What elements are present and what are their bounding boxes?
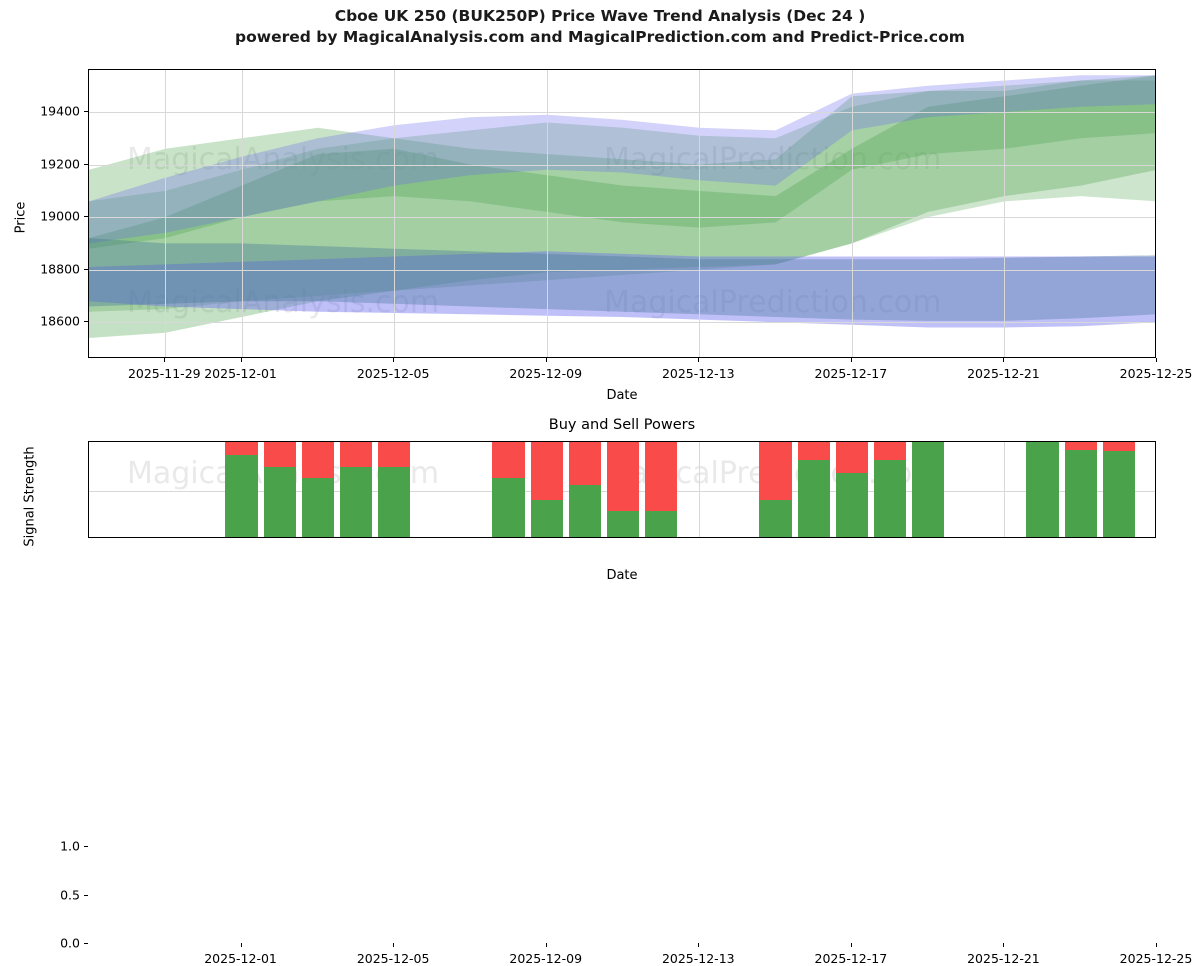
gridline-vertical <box>547 70 548 357</box>
y-tick-mark <box>84 895 88 896</box>
x-tick-mark <box>546 358 547 362</box>
price-y-axis-label: Price <box>14 188 29 248</box>
x-tick-mark <box>393 358 394 362</box>
y-tick-label: 19000 <box>40 209 80 224</box>
y-tick-label: 18600 <box>40 314 80 329</box>
bar-segment-sell <box>531 441 563 500</box>
bar-stack[interactable] <box>645 441 677 537</box>
bar-segment-sell <box>1103 441 1135 451</box>
bar-stack[interactable] <box>340 441 372 537</box>
bar-segment-sell <box>836 441 868 473</box>
bar-stack[interactable] <box>874 441 906 537</box>
gridline-horizontal <box>89 322 1155 323</box>
y-tick-mark <box>84 321 88 322</box>
x-tick-mark <box>1156 943 1157 947</box>
bar-segment-buy <box>912 441 944 537</box>
y-tick-label: 0.0 <box>60 936 80 951</box>
bar-segment-sell <box>302 441 334 478</box>
x-tick-label: 2025-12-09 <box>509 951 582 966</box>
bar-segment-buy <box>531 500 563 537</box>
bar-segment-buy <box>874 460 906 537</box>
bar-segment-sell <box>798 441 830 460</box>
buy-sell-plot-area: MagicalAnalysis.com MagicalPrediction.co… <box>88 441 1156 538</box>
x-tick-label: 2025-12-21 <box>967 951 1040 966</box>
bar-segment-sell <box>607 441 639 511</box>
gridline-vertical <box>165 70 166 357</box>
gridline-horizontal <box>89 217 1155 218</box>
bar-stack[interactable] <box>836 441 868 537</box>
bar-segment-sell <box>264 441 296 467</box>
gridline-vertical <box>242 70 243 357</box>
x-tick-mark <box>1156 358 1157 362</box>
bar-segment-buy <box>759 500 791 537</box>
bar-stack[interactable] <box>1065 441 1097 537</box>
bar-segment-buy <box>569 485 601 537</box>
bar-stack[interactable] <box>607 441 639 537</box>
gridline-vertical <box>1004 442 1005 537</box>
x-tick-mark <box>1003 943 1004 947</box>
bar-segment-buy <box>1103 451 1135 537</box>
y-tick-mark <box>84 216 88 217</box>
bar-segment-sell <box>225 441 257 455</box>
bar-stack[interactable] <box>531 441 563 537</box>
bar-segment-sell <box>645 441 677 511</box>
price-plot-area: MagicalAnalysis.com MagicalPrediction.co… <box>88 69 1156 358</box>
bar-segment-buy <box>340 467 372 537</box>
price-x-axis-label: Date <box>88 388 1156 403</box>
bar-stack[interactable] <box>225 441 257 537</box>
x-tick-label: 2025-12-09 <box>509 366 582 381</box>
bar-segment-sell <box>340 441 372 467</box>
y-tick-mark <box>84 943 88 944</box>
bar-segment-buy <box>378 467 410 537</box>
y-tick-label: 0.5 <box>60 887 80 902</box>
gridline-vertical <box>1004 70 1005 357</box>
signal-y-axis-label: Signal Strength <box>23 444 38 550</box>
x-tick-mark <box>164 358 165 362</box>
x-tick-mark <box>698 943 699 947</box>
bar-segment-buy <box>645 511 677 537</box>
y-tick-label: 19200 <box>40 156 80 171</box>
signal-x-axis-label: Date <box>88 568 1156 583</box>
y-tick-label: 18800 <box>40 261 80 276</box>
bar-stack[interactable] <box>378 441 410 537</box>
x-tick-mark <box>241 943 242 947</box>
bar-segment-buy <box>225 455 257 538</box>
x-tick-mark <box>241 358 242 362</box>
x-tick-label: 2025-12-21 <box>967 366 1040 381</box>
x-tick-mark <box>546 943 547 947</box>
x-tick-label: 2025-12-17 <box>815 951 888 966</box>
y-tick-mark <box>84 269 88 270</box>
gridline-vertical <box>852 70 853 357</box>
bar-segment-sell <box>492 441 524 478</box>
bar-segment-buy <box>302 478 334 537</box>
bar-stack[interactable] <box>569 441 601 537</box>
y-tick-mark <box>84 111 88 112</box>
bar-segment-sell <box>378 441 410 467</box>
bar-segment-buy <box>1026 441 1058 537</box>
x-tick-mark <box>698 358 699 362</box>
x-tick-label: 2025-12-25 <box>1120 366 1193 381</box>
bar-stack[interactable] <box>264 441 296 537</box>
gridline-vertical <box>699 70 700 357</box>
x-tick-mark <box>851 943 852 947</box>
gridline-horizontal <box>89 270 1155 271</box>
gridline-vertical <box>394 70 395 357</box>
y-tick-label: 1.0 <box>60 839 80 854</box>
x-tick-mark <box>1003 358 1004 362</box>
bar-segment-buy <box>607 511 639 537</box>
bar-segment-buy <box>836 473 868 537</box>
bar-segment-sell <box>1065 441 1097 450</box>
x-tick-label: 2025-11-29 <box>128 366 201 381</box>
y-tick-mark <box>84 846 88 847</box>
bar-segment-buy <box>492 478 524 537</box>
buy-sell-title: Buy and Sell Powers <box>88 417 1156 433</box>
x-tick-mark <box>393 943 394 947</box>
bar-segment-sell <box>759 441 791 500</box>
figure-root: Cboe UK 250 (BUK250P) Price Wave Trend A… <box>0 0 1200 600</box>
bar-stack[interactable] <box>759 441 791 537</box>
bar-stack[interactable] <box>1103 441 1135 537</box>
bar-stack[interactable] <box>798 441 830 537</box>
price-wave-panel: Price MagicalAnalysis.com MagicalPredict… <box>0 0 1200 405</box>
gridline-vertical <box>699 442 700 537</box>
buy-sell-panel: Buy and Sell Powers Signal Strength Magi… <box>0 405 1200 600</box>
x-tick-label: 2025-12-25 <box>1120 951 1193 966</box>
x-tick-label: 2025-12-05 <box>357 366 430 381</box>
bar-segment-sell <box>874 441 906 460</box>
bar-stack[interactable] <box>302 441 334 537</box>
y-tick-mark <box>84 164 88 165</box>
y-tick-label: 19400 <box>40 104 80 119</box>
x-tick-label: 2025-12-01 <box>204 366 277 381</box>
bar-stack[interactable] <box>1026 441 1058 537</box>
price-wave-bands <box>89 70 1156 358</box>
x-tick-mark <box>851 358 852 362</box>
x-tick-label: 2025-12-17 <box>815 366 888 381</box>
bar-segment-buy <box>798 460 830 537</box>
bar-stack[interactable] <box>912 441 944 537</box>
x-tick-label: 2025-12-13 <box>662 951 735 966</box>
x-tick-label: 2025-12-01 <box>204 951 277 966</box>
bar-segment-buy <box>264 467 296 537</box>
gridline-horizontal <box>89 112 1155 113</box>
x-tick-label: 2025-12-13 <box>662 366 735 381</box>
bar-segment-buy <box>1065 450 1097 537</box>
x-tick-label: 2025-12-05 <box>357 951 430 966</box>
gridline-horizontal <box>89 165 1155 166</box>
bar-stack[interactable] <box>492 441 524 537</box>
bar-segment-sell <box>569 441 601 485</box>
